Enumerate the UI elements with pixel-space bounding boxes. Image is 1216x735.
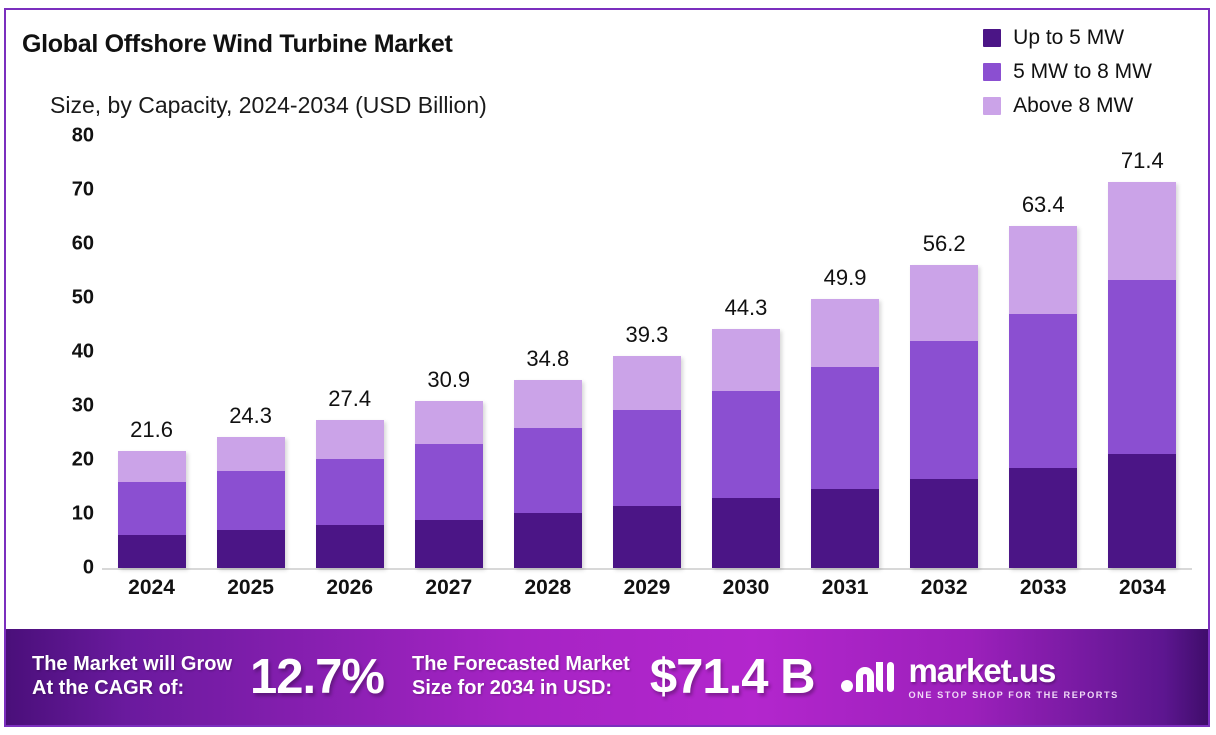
bar-column[interactable]: 39.3 [613,130,681,568]
bar-total-label: 27.4 [328,386,371,412]
bar-total-label: 63.4 [1022,192,1065,218]
bar-segment[interactable] [415,444,483,520]
legend-item[interactable]: Above 8 MW [983,94,1152,118]
bar-group: 21.624.327.430.934.839.344.349.956.263.4… [102,130,1192,568]
bar-column[interactable]: 71.4 [1108,130,1176,568]
bar-segment[interactable] [910,341,978,479]
bar-column[interactable]: 56.2 [910,130,978,568]
x-axis-tick-label: 2029 [613,576,681,600]
bar-segment[interactable] [1108,182,1176,279]
y-axis-tick-label: 0 [38,557,94,580]
bar-total-label: 39.3 [626,322,669,348]
stacked-bar[interactable] [613,356,681,568]
bar-segment[interactable] [217,471,285,530]
bar-segment[interactable] [1108,280,1176,454]
legend-item[interactable]: Up to 5 MW [983,26,1152,50]
forecast-value: $71.4 B [650,649,815,705]
bar-segment[interactable] [712,391,780,498]
stacked-bar[interactable] [514,380,582,568]
chart-plot-area: 80706050403020100 21.624.327.430.934.839… [6,130,1208,610]
y-axis-tick-label: 60 [38,233,94,256]
legend-swatch-icon [983,29,1001,47]
bar-segment[interactable] [1108,454,1176,568]
legend-label: Above 8 MW [1013,94,1133,118]
cagr-caption-line2: At the CAGR of: [32,677,232,701]
bar-segment[interactable] [1009,468,1077,568]
legend-label: Up to 5 MW [1013,26,1124,50]
page-subtitle: Size, by Capacity, 2024-2034 (USD Billio… [50,92,487,119]
legend-swatch-icon [983,97,1001,115]
stacked-bar[interactable] [811,299,879,568]
bar-segment[interactable] [415,401,483,444]
bar-column[interactable]: 49.9 [811,130,879,568]
bar-segment[interactable] [316,525,384,568]
x-axis-baseline [102,568,1192,570]
cagr-caption-line1: The Market will Grow [32,653,232,677]
x-axis-tick-label: 2027 [415,576,483,600]
logo-tagline: ONE STOP SHOP FOR THE REPORTS [908,690,1118,700]
bar-total-label: 49.9 [824,265,867,291]
market-us-logo[interactable]: market.us ONE STOP SHOP FOR THE REPORTS [840,654,1118,700]
bar-segment[interactable] [1009,226,1077,315]
bar-total-label: 34.8 [526,346,569,372]
bar-column[interactable]: 30.9 [415,130,483,568]
bar-total-label: 30.9 [427,367,470,393]
x-axis: 2024202520262027202820292030203120322033… [102,576,1192,600]
bar-segment[interactable] [514,380,582,428]
bar-total-label: 21.6 [130,417,173,443]
bar-segment[interactable] [217,530,285,568]
market-us-wordmark: market.us ONE STOP SHOP FOR THE REPORTS [908,654,1118,700]
bar-segment[interactable] [118,451,186,481]
cagr-value: 12.7% [250,649,384,705]
bar-column[interactable]: 34.8 [514,130,582,568]
y-axis-tick-label: 40 [38,341,94,364]
x-axis-tick-label: 2034 [1108,576,1176,600]
bar-segment[interactable] [613,356,681,410]
stacked-bar[interactable] [1108,182,1176,568]
bar-segment[interactable] [712,498,780,568]
bar-segment[interactable] [118,535,186,568]
bar-segment[interactable] [415,520,483,568]
bar-column[interactable]: 27.4 [316,130,384,568]
forecast-caption: The Forecasted Market Size for 2034 in U… [412,653,630,700]
bar-total-label: 71.4 [1121,148,1164,174]
bar-segment[interactable] [217,437,285,471]
bar-segment[interactable] [1009,314,1077,467]
bar-column[interactable]: 63.4 [1009,130,1077,568]
bar-segment[interactable] [613,506,681,568]
stacked-bar[interactable] [217,437,285,568]
x-axis-tick-label: 2024 [118,576,186,600]
bar-segment[interactable] [613,410,681,507]
forecast-caption-line2: Size for 2034 in USD: [412,677,630,701]
bar-segment[interactable] [118,482,186,535]
bar-total-label: 44.3 [725,295,768,321]
forecast-caption-line1: The Forecasted Market [412,653,630,677]
x-axis-tick-label: 2026 [316,576,384,600]
page-title: Global Offshore Wind Turbine Market [22,30,453,59]
chart-legend: Up to 5 MW5 MW to 8 MWAbove 8 MW [983,26,1152,118]
y-axis: 80706050403020100 [38,130,94,562]
market-us-mark-icon [840,655,898,700]
y-axis-tick-label: 50 [38,287,94,310]
bar-segment[interactable] [811,299,879,368]
summary-banner: The Market will Grow At the CAGR of: 12.… [6,629,1210,725]
bar-segment[interactable] [811,367,879,489]
bar-segment[interactable] [316,420,384,459]
bar-segment[interactable] [514,513,582,568]
legend-label: 5 MW to 8 MW [1013,60,1152,84]
bar-segment[interactable] [910,265,978,341]
bar-total-label: 56.2 [923,231,966,257]
legend-swatch-icon [983,63,1001,81]
stacked-bar[interactable] [1009,226,1077,568]
stacked-bar[interactable] [316,420,384,568]
x-axis-tick-label: 2025 [217,576,285,600]
bar-segment[interactable] [910,479,978,568]
infographic-frame: Global Offshore Wind Turbine Market Size… [4,8,1210,727]
stacked-bar[interactable] [712,329,780,568]
cagr-caption: The Market will Grow At the CAGR of: [32,653,232,700]
stacked-bar[interactable] [910,265,978,568]
bar-segment[interactable] [316,459,384,525]
x-axis-tick-label: 2032 [910,576,978,600]
bar-column[interactable]: 44.3 [712,130,780,568]
stacked-bar[interactable] [415,401,483,568]
bar-column[interactable]: 24.3 [217,130,285,568]
x-axis-tick-label: 2030 [712,576,780,600]
y-axis-tick-label: 30 [38,395,94,418]
y-axis-tick-label: 70 [38,179,94,202]
x-axis-tick-label: 2033 [1009,576,1077,600]
bar-segment[interactable] [712,329,780,392]
y-axis-tick-label: 20 [38,449,94,472]
logo-name: market.us [908,654,1118,687]
bar-total-label: 24.3 [229,403,272,429]
y-axis-tick-label: 10 [38,503,94,526]
legend-item[interactable]: 5 MW to 8 MW [983,60,1152,84]
bar-column[interactable]: 21.6 [118,130,186,568]
y-axis-tick-label: 80 [38,125,94,148]
x-axis-tick-label: 2031 [811,576,879,600]
bar-segment[interactable] [811,489,879,568]
stacked-bar[interactable] [118,451,186,568]
bar-segment[interactable] [514,428,582,513]
x-axis-tick-label: 2028 [514,576,582,600]
